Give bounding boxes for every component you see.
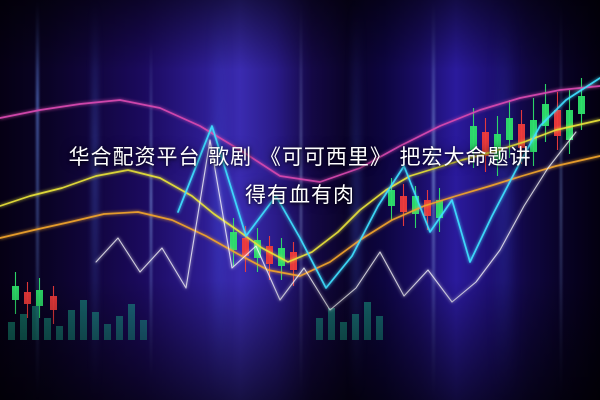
histogram-bar <box>80 300 87 340</box>
histogram-bar <box>8 322 15 340</box>
candle-body <box>36 290 43 306</box>
histogram-bar <box>68 310 75 340</box>
histogram-bar <box>316 318 323 340</box>
candle-body <box>506 118 513 140</box>
candle-body <box>24 292 31 304</box>
histogram-bar <box>32 306 39 340</box>
histogram-bar <box>352 314 359 340</box>
histogram-bar <box>140 320 147 340</box>
histogram-bar <box>376 316 383 340</box>
candle-body <box>50 296 57 310</box>
histogram-bar <box>340 322 347 340</box>
volume-histogram <box>8 300 383 340</box>
candle-body <box>566 110 573 140</box>
headline-line-2: 得有血有肉 <box>26 176 574 214</box>
histogram-bar <box>44 318 51 340</box>
headline-text: 华合配资平台 歌剧 《可可西里》 把宏大命题讲 得有血有肉 <box>0 138 600 214</box>
candle-body <box>578 96 585 114</box>
histogram-bar <box>116 316 123 340</box>
histogram-bar <box>364 302 371 340</box>
candle-body <box>12 286 19 300</box>
histogram-bar <box>128 304 135 340</box>
candle-body <box>554 110 561 136</box>
histogram-bar <box>104 324 111 340</box>
candle-body <box>266 246 273 264</box>
histogram-bar <box>92 312 99 340</box>
banner-image: 华合配资平台 歌剧 《可可西里》 把宏大命题讲 得有血有肉 <box>0 0 600 400</box>
histogram-bar <box>328 308 335 340</box>
histogram-bar <box>56 326 63 340</box>
candle-body <box>230 232 237 250</box>
headline-line-1: 华合配资平台 歌剧 《可可西里》 把宏大命题讲 <box>26 138 574 176</box>
histogram-bar <box>20 314 27 340</box>
